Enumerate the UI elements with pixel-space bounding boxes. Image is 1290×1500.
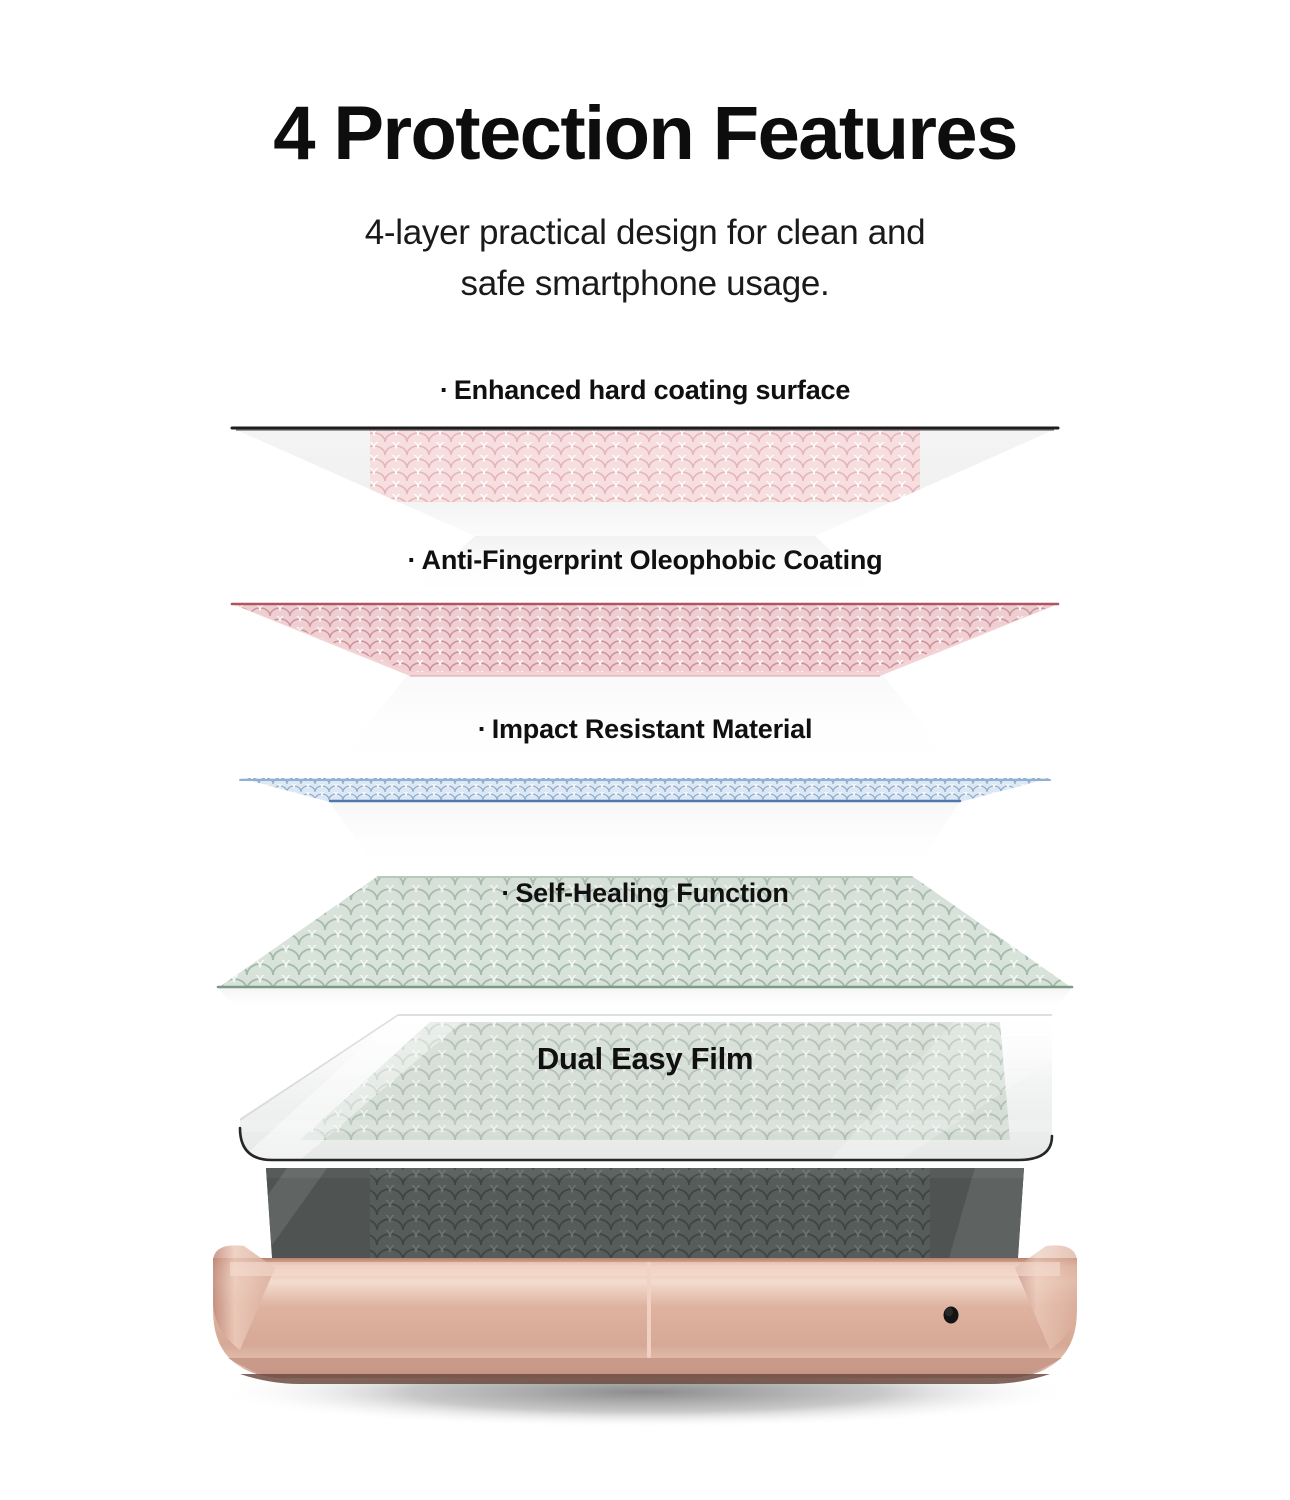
bullet-icon: ·	[478, 714, 492, 744]
layer-label-impact-resistant: ·Impact Resistant Material	[0, 714, 1290, 745]
layer-oleophobic-shape	[220, 600, 1080, 680]
layer-label-text: Dual Easy Film	[537, 1041, 753, 1076]
layer-label-text: Anti-Fingerprint Oleophobic Coating	[422, 545, 883, 575]
subtitle-line-2: safe smartphone usage.	[461, 264, 830, 303]
page-subtitle: 4-layer practical design for clean and s…	[0, 172, 1290, 310]
layer-label-dual-easy-film: Dual Easy Film	[0, 1041, 1290, 1077]
layer-dual-easy-film-shape	[240, 1015, 1052, 1160]
subtitle-line-1: 4-layer practical design for clean and	[365, 213, 926, 252]
layer-hard-coating-shape	[232, 428, 1058, 536]
bullet-icon: ·	[440, 375, 454, 405]
bullet-icon: ·	[501, 878, 515, 908]
smartphone-device	[200, 1150, 1077, 1384]
layer-label-hard-coating: ·Enhanced hard coating surface	[0, 375, 1290, 406]
antenna-line-icon	[647, 1262, 651, 1358]
page-title: 4 Protection Features	[0, 0, 1290, 172]
layer-label-text: Self-Healing Function	[515, 878, 788, 908]
layer-label-text: Enhanced hard coating surface	[454, 375, 850, 405]
layer-label-oleophobic: ·Anti-Fingerprint Oleophobic Coating	[0, 545, 1290, 576]
bullet-icon: ·	[408, 545, 422, 575]
layer-label-text: Impact Resistant Material	[492, 714, 813, 744]
header: 4 Protection Features 4-layer practical …	[0, 0, 1290, 310]
layer-label-self-healing: ·Self-Healing Function	[0, 878, 1290, 909]
